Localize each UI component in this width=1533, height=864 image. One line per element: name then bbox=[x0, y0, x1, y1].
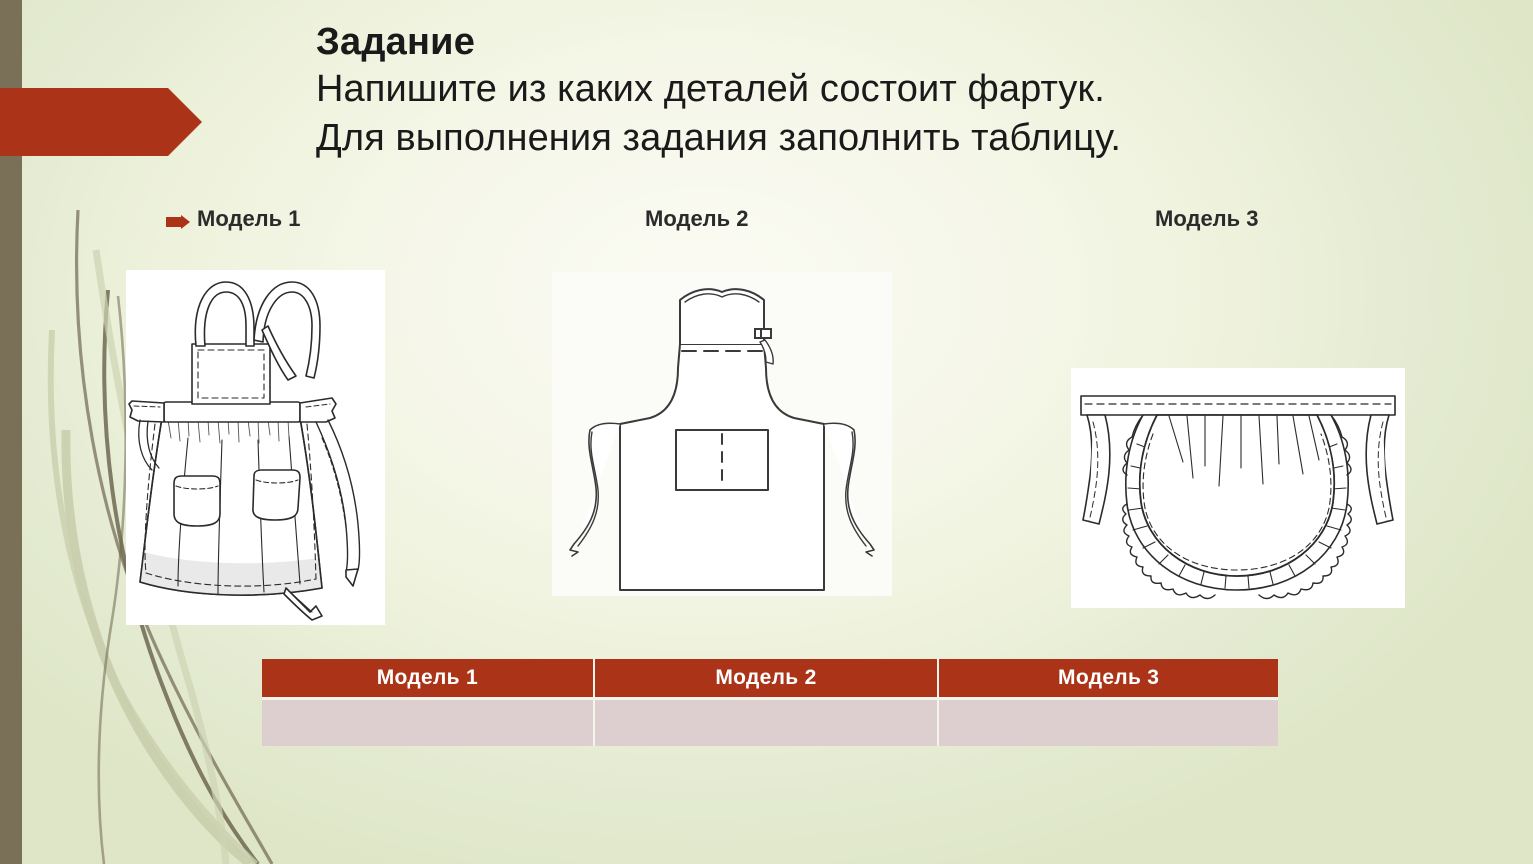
table-cell-model-1[interactable] bbox=[262, 700, 595, 746]
model-caption-row: Модель 1 Модель 2 Модель 3 bbox=[0, 206, 1533, 240]
caption-model-1: Модель 1 bbox=[197, 206, 301, 232]
table-header-model-3[interactable]: Модель 3 bbox=[939, 659, 1278, 700]
instruction-line-1: Напишите из каких деталей состоит фартук… bbox=[316, 65, 1436, 114]
table-header-model-1[interactable]: Модель 1 bbox=[262, 659, 595, 700]
apron-illustration-model-2 bbox=[552, 272, 892, 596]
instruction-line-2: Для выполнения задания заполнить таблицу… bbox=[316, 114, 1436, 163]
table-cell-model-2[interactable] bbox=[595, 700, 940, 746]
caption-model-2: Модель 2 bbox=[645, 206, 749, 232]
table-header-model-2[interactable]: Модель 2 bbox=[595, 659, 940, 700]
red-arrow-banner-icon bbox=[0, 88, 202, 156]
caption-model-3: Модель 3 bbox=[1155, 206, 1259, 232]
page-title: Задание bbox=[316, 20, 1436, 65]
apron-illustration-model-1 bbox=[126, 270, 385, 625]
apron-illustration-model-3 bbox=[1071, 368, 1405, 608]
models-answer-table: Модель 1 Модель 2 Модель 3 bbox=[262, 659, 1278, 746]
heading-block: Задание Напишите из каких деталей состои… bbox=[316, 20, 1436, 164]
table-header-row: Модель 1 Модель 2 Модель 3 bbox=[262, 659, 1278, 700]
table-row bbox=[262, 700, 1278, 746]
slide-canvas: Задание Напишите из каких деталей состои… bbox=[0, 0, 1533, 864]
table-cell-model-3[interactable] bbox=[939, 700, 1278, 746]
red-arrow-bullet-icon bbox=[166, 215, 190, 229]
